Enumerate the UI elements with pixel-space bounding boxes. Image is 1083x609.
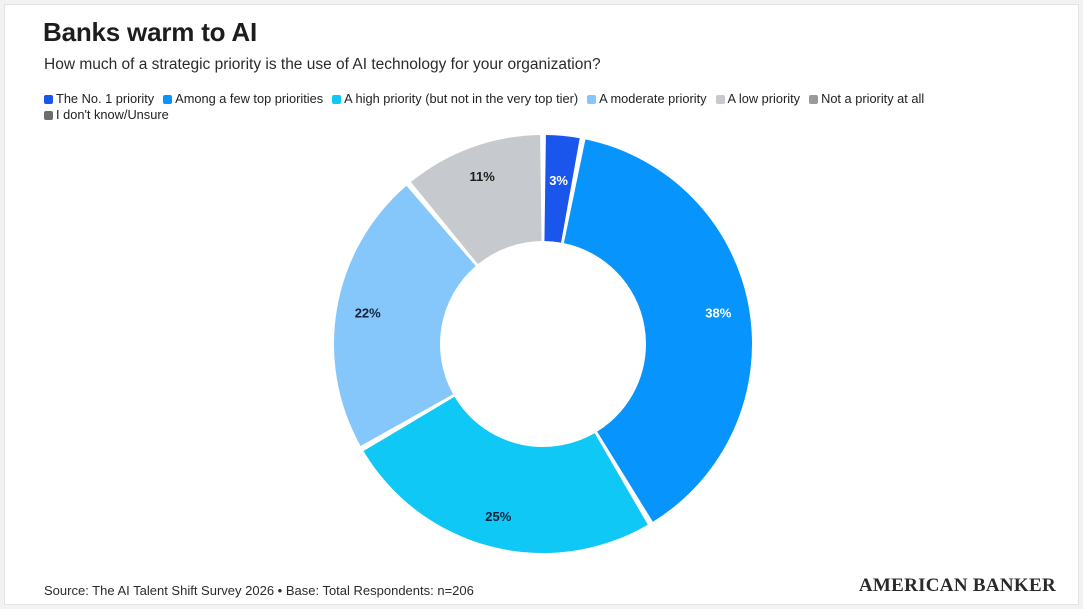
- legend-item[interactable]: Among a few top priorities: [163, 91, 323, 107]
- legend-item-label: A low priority: [728, 91, 801, 106]
- legend-item-label: Not a priority at all: [821, 91, 924, 106]
- donut-chart: 3%38%25%22%11%: [328, 129, 758, 559]
- legend-item-label: I don't know/Unsure: [56, 107, 169, 122]
- legend-swatch-icon: [44, 111, 53, 120]
- legend-item-label: Among a few top priorities: [175, 91, 323, 106]
- slice-value-label: 25%: [485, 509, 511, 524]
- legend-item[interactable]: Not a priority at all: [809, 91, 924, 107]
- chart-card: Banks warm to AI How much of a strategic…: [4, 4, 1079, 605]
- slice-value-label: 38%: [705, 306, 731, 321]
- legend-item-label: The No. 1 priority: [56, 91, 154, 106]
- slice-value-label: 11%: [469, 169, 495, 184]
- legend-swatch-icon: [332, 95, 341, 104]
- legend-swatch-icon: [716, 95, 725, 104]
- chart-subtitle: How much of a strategic priority is the …: [44, 56, 601, 74]
- slice-value-label: 22%: [355, 306, 381, 321]
- legend-item-label: A moderate priority: [599, 91, 706, 106]
- legend-item[interactable]: The No. 1 priority: [44, 91, 154, 107]
- chart-plot-area: 3%38%25%22%11%: [5, 123, 1079, 563]
- legend-swatch-icon: [163, 95, 172, 104]
- legend-swatch-icon: [809, 95, 818, 104]
- legend-item-label: A high priority (but not in the very top…: [344, 91, 578, 106]
- legend-item[interactable]: I don't know/Unsure: [44, 107, 169, 123]
- slice-value-label: 3%: [549, 173, 568, 188]
- page-title: Banks warm to AI: [43, 17, 257, 48]
- legend-swatch-icon: [44, 95, 53, 104]
- american-banker-logo: AMERICAN BANKER: [859, 575, 1056, 597]
- legend-item[interactable]: A moderate priority: [587, 91, 706, 107]
- legend-swatch-icon: [587, 95, 596, 104]
- chart-legend: The No. 1 priorityAmong a few top priori…: [44, 91, 1049, 123]
- legend-item[interactable]: A low priority: [716, 91, 801, 107]
- source-note: Source: The AI Talent Shift Survey 2026 …: [44, 583, 474, 598]
- legend-item[interactable]: A high priority (but not in the very top…: [332, 91, 578, 107]
